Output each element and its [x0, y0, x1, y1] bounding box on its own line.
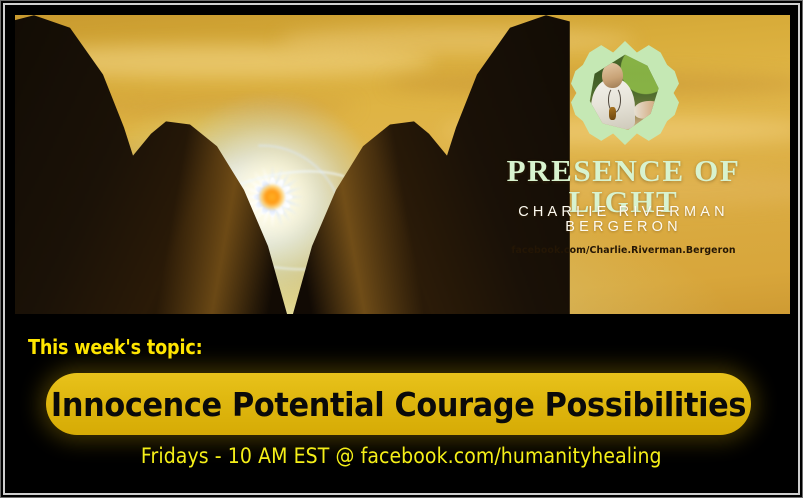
poster-graphic: PRESENCE OF LIGHT CHARLIE RIVERMAN BERGE…: [0, 0, 803, 498]
hero-banner: PRESENCE OF LIGHT CHARLIE RIVERMAN BERGE…: [15, 15, 790, 314]
schedule-line: Fridays - 10 AM EST @ facebook.com/human…: [6, 444, 797, 468]
topic-title: Innocence Potential Courage Possibilitie…: [74, 373, 723, 435]
banner-subheadline: CHARLIE RIVERMAN BERGERON: [461, 205, 786, 234]
topic-pill-button[interactable]: Innocence Potential Courage Possibilitie…: [46, 373, 751, 435]
poster-inner: PRESENCE OF LIGHT CHARLIE RIVERMAN BERGE…: [6, 6, 797, 492]
burst-core: [259, 184, 285, 210]
lotus-light-burst-icon: [198, 127, 346, 267]
avatar: [571, 41, 679, 145]
schedule-text: Fridays - 10 AM EST @ facebook.com/human…: [141, 444, 662, 468]
topic-label: This week's topic:: [28, 335, 202, 359]
banner-facebook-url: facebook.com/Charlie.Riverman.Bergeron: [461, 246, 786, 255]
bottom-panel: This week's topic: Innocence Potential C…: [6, 314, 797, 492]
avatar-photo-pendant: [609, 107, 616, 120]
